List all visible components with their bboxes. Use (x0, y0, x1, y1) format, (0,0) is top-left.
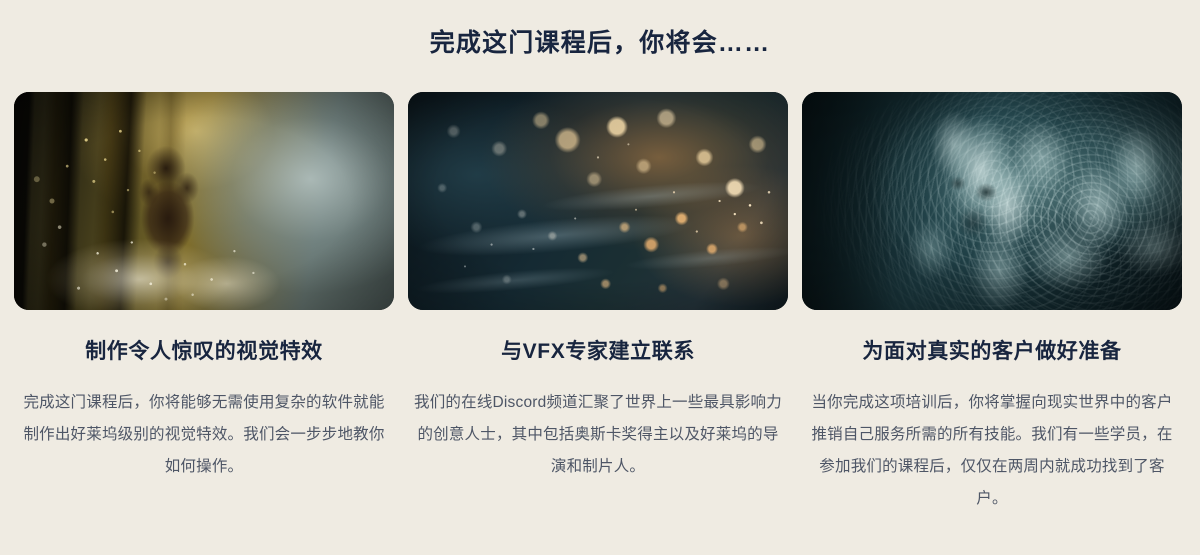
golden-bokeh-particles-dark-teal-image (408, 92, 788, 310)
teal-smoke-forming-face-image (802, 92, 1182, 310)
benefit-card: 为面对真实的客户做好准备 当你完成这项培训后，你将掌握向现实世界中的客户推销自己… (802, 92, 1182, 515)
image-vignette-layer (14, 92, 394, 310)
benefit-card-body: 当你完成这项培训后，你将掌握向现实世界中的客户推销自己服务所需的所有技能。我们有… (806, 387, 1178, 515)
image-vignette-layer (802, 92, 1182, 310)
image-vignette-layer (408, 92, 788, 310)
benefit-card: 与VFX专家建立联系 我们的在线Discord频道汇聚了世界上一些最具影响力的创… (408, 92, 788, 483)
benefit-card-title: 与VFX专家建立联系 (501, 338, 695, 365)
benefit-card-title: 为面对真实的客户做好准备 (862, 338, 1121, 365)
promo-benefits-section: 完成这门课程后，你将会…… 制作令人惊叹的视觉特效 完成这门课程后，你将能够无需… (0, 0, 1200, 555)
benefit-card-body: 完成这门课程后，你将能够无需使用复杂的软件就能制作出好莱坞级别的视觉特效。我们会… (18, 387, 390, 483)
benefit-card: 制作令人惊叹的视觉特效 完成这门课程后，你将能够无需使用复杂的软件就能制作出好莱… (14, 92, 394, 483)
section-heading: 完成这门课程后，你将会…… (0, 28, 1200, 58)
benefit-card-title: 制作令人惊叹的视觉特效 (85, 338, 323, 365)
runner-through-water-golden-light-image (14, 92, 394, 310)
benefit-card-body: 我们的在线Discord频道汇聚了世界上一些最具影响力的创意人士，其中包括奥斯卡… (412, 387, 784, 483)
benefit-card-grid: 制作令人惊叹的视觉特效 完成这门课程后，你将能够无需使用复杂的软件就能制作出好莱… (14, 92, 1186, 515)
